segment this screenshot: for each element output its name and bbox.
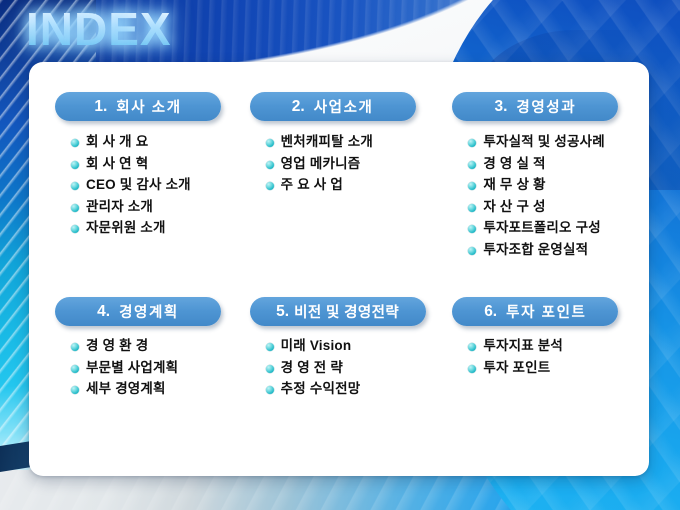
list-item-label: 추정 수익전망 (281, 381, 361, 396)
bullet-icon (71, 161, 79, 169)
list-item[interactable]: 추정 수익전망 (266, 382, 437, 396)
content-card: 1. 회사 소개 회 사 개 요 회 사 연 혁 CEO 및 감사 소개 관리자… (29, 62, 649, 476)
section-title: 투자 포인트 (506, 301, 586, 322)
section-header-5[interactable]: 5. 비전 및 경영전략 (250, 297, 426, 326)
list-item[interactable]: 부문별 사업계획 (71, 361, 230, 375)
list-item-label: 경 영 실 적 (483, 156, 545, 171)
bullet-icon (468, 204, 476, 212)
bullet-icon (266, 139, 274, 147)
bullet-icon (468, 139, 476, 147)
index-grid: 1. 회사 소개 회 사 개 요 회 사 연 혁 CEO 및 감사 소개 관리자… (29, 62, 649, 476)
bullet-icon (71, 182, 79, 190)
bullet-icon (71, 365, 79, 373)
section-title: 사업소개 (314, 96, 374, 117)
list-item[interactable]: 재 무 상 황 (468, 178, 643, 192)
list-item-label: 재 무 상 황 (483, 177, 545, 192)
bullet-icon (468, 225, 476, 233)
bullet-icon (468, 161, 476, 169)
section-item-list-5: 미래 Vision 경 영 전 략 추정 수익전망 (250, 339, 437, 396)
list-item-label: 투자포트폴리오 구성 (483, 220, 601, 235)
list-item[interactable]: 영업 메카니즘 (266, 157, 437, 171)
section-header-4[interactable]: 4. 경영계획 (55, 297, 221, 326)
list-item-label: 회 사 연 혁 (86, 156, 148, 171)
bullet-icon (71, 343, 79, 351)
section-number: 3. (494, 98, 507, 116)
section-item-list-1: 회 사 개 요 회 사 연 혁 CEO 및 감사 소개 관리자 소개 자문위원 … (55, 135, 230, 235)
list-item[interactable]: 투자조합 운영실적 (468, 243, 643, 257)
index-section-4: 4. 경영계획 경 영 환 경 부문별 사업계획 세부 경영계획 (29, 297, 236, 476)
list-item[interactable]: 자 산 구 성 (468, 200, 643, 214)
index-section-3: 3. 경영성과 투자실적 및 성공사례 경 영 실 적 재 무 상 황 자 산 … (442, 92, 649, 297)
list-item[interactable]: 투자포트폴리오 구성 (468, 221, 643, 235)
section-number: 6. (484, 303, 497, 321)
section-item-list-6: 투자지표 분석 투자 포인트 (452, 339, 643, 374)
section-header-1[interactable]: 1. 회사 소개 (55, 92, 221, 121)
list-item-label: 주 요 사 업 (281, 177, 343, 192)
list-item[interactable]: 경 영 환 경 (71, 339, 230, 353)
bullet-icon (71, 139, 79, 147)
bullet-icon (468, 365, 476, 373)
list-item-label: 회 사 개 요 (86, 134, 148, 149)
list-item[interactable]: CEO 및 감사 소개 (71, 178, 230, 192)
list-item[interactable]: 투자 포인트 (468, 361, 643, 375)
bullet-icon (266, 182, 274, 190)
list-item-label: 투자지표 분석 (483, 338, 563, 353)
list-item[interactable]: 미래 Vision (266, 339, 437, 353)
list-item-label: CEO 및 감사 소개 (86, 177, 191, 192)
bullet-icon (71, 386, 79, 394)
list-item-label: 투자실적 및 성공사례 (483, 134, 604, 149)
section-number: 1. (94, 98, 107, 116)
section-item-list-2: 벤처캐피탈 소개 영업 메카니즘 주 요 사 업 (250, 135, 437, 192)
list-item-label: 세부 경영계획 (86, 381, 166, 396)
list-item-label: 투자 포인트 (483, 360, 550, 375)
bullet-icon (266, 386, 274, 394)
list-item[interactable]: 주 요 사 업 (266, 178, 437, 192)
section-title: 경영계획 (119, 301, 179, 322)
section-header-6[interactable]: 6. 투자 포인트 (452, 297, 618, 326)
list-item-label: 자 산 구 성 (483, 199, 545, 214)
section-header-2[interactable]: 2. 사업소개 (250, 92, 416, 121)
section-number: 2. (292, 98, 305, 116)
list-item[interactable]: 투자지표 분석 (468, 339, 643, 353)
bullet-icon (468, 247, 476, 255)
list-item[interactable]: 관리자 소개 (71, 200, 230, 214)
index-section-6: 6. 투자 포인트 투자지표 분석 투자 포인트 (442, 297, 649, 476)
index-section-2: 2. 사업소개 벤처캐피탈 소개 영업 메카니즘 주 요 사 업 (236, 92, 443, 297)
bullet-icon (266, 343, 274, 351)
list-item-label: 부문별 사업계획 (86, 360, 178, 375)
section-number: 5. (276, 303, 289, 321)
list-item[interactable]: 회 사 개 요 (71, 135, 230, 149)
section-title: 비전 및 경영전략 (294, 301, 399, 322)
list-item[interactable]: 경 영 실 적 (468, 157, 643, 171)
section-item-list-4: 경 영 환 경 부문별 사업계획 세부 경영계획 (55, 339, 230, 396)
bullet-icon (468, 343, 476, 351)
section-number: 4. (97, 303, 110, 321)
list-item-label: 자문위원 소개 (86, 220, 166, 235)
list-item[interactable]: 세부 경영계획 (71, 382, 230, 396)
index-section-1: 1. 회사 소개 회 사 개 요 회 사 연 혁 CEO 및 감사 소개 관리자… (29, 92, 236, 297)
list-item-label: 경 영 환 경 (86, 338, 148, 353)
section-header-3[interactable]: 3. 경영성과 (452, 92, 618, 121)
list-item-label: 투자조합 운영실적 (483, 242, 588, 257)
list-item[interactable]: 회 사 연 혁 (71, 157, 230, 171)
list-item-label: 미래 Vision (281, 338, 352, 353)
bullet-icon (71, 225, 79, 233)
list-item[interactable]: 벤처캐피탈 소개 (266, 135, 437, 149)
bullet-icon (468, 182, 476, 190)
list-item[interactable]: 자문위원 소개 (71, 221, 230, 235)
index-section-5: 5. 비전 및 경영전략 미래 Vision 경 영 전 략 추정 수익전망 (236, 297, 443, 476)
list-item-label: 관리자 소개 (86, 199, 153, 214)
section-title: 경영성과 (516, 96, 576, 117)
page-title: INDEX (26, 6, 172, 52)
list-item[interactable]: 경 영 전 략 (266, 361, 437, 375)
bullet-icon (266, 365, 274, 373)
list-item-label: 경 영 전 략 (281, 360, 343, 375)
bullet-icon (266, 161, 274, 169)
list-item[interactable]: 투자실적 및 성공사례 (468, 135, 643, 149)
list-item-label: 영업 메카니즘 (281, 156, 361, 171)
section-title: 회사 소개 (116, 96, 181, 117)
bullet-icon (71, 204, 79, 212)
list-item-label: 벤처캐피탈 소개 (281, 134, 373, 149)
index-slide: INDEX 1. 회사 소개 회 사 개 요 회 사 연 혁 CEO 및 감사 … (0, 0, 680, 510)
section-item-list-3: 투자실적 및 성공사례 경 영 실 적 재 무 상 황 자 산 구 성 투자포트… (452, 135, 643, 256)
